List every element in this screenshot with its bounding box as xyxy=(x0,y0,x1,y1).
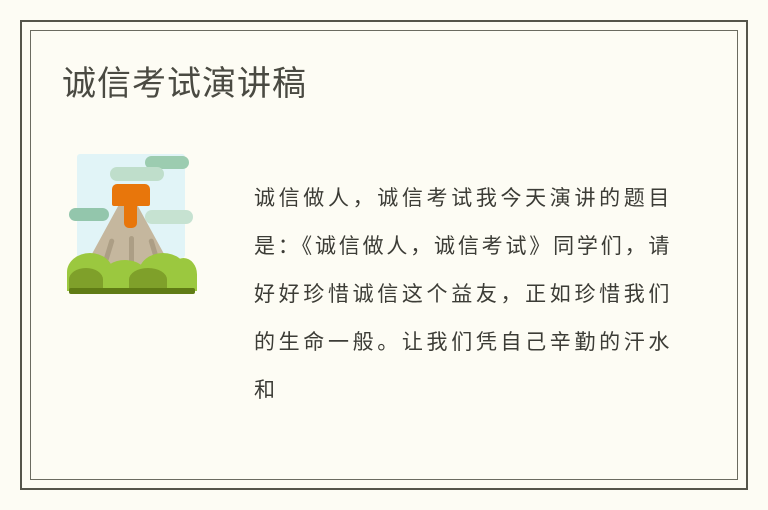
page-title: 诚信考试演讲稿 xyxy=(62,64,307,104)
volcano-lava-flow xyxy=(124,200,137,228)
ground-strip xyxy=(69,288,195,294)
cloud-icon xyxy=(110,167,164,181)
bush-icon xyxy=(170,258,197,291)
document-page-frame: 诚信考试演讲稿 诚信做人，诚信考试我今天演讲的题目是：《诚信做人，诚信考试》同学… xyxy=(20,20,748,490)
article-content: 诚信做人，诚信考试我今天演讲的题目是：《诚信做人，诚信考试》同学们，请好好珍惜诚… xyxy=(62,144,724,478)
volcano-icon xyxy=(67,150,197,298)
article-body-text: 诚信做人，诚信考试我今天演讲的题目是：《诚信做人，诚信考试》同学们，请好好珍惜诚… xyxy=(254,174,672,414)
